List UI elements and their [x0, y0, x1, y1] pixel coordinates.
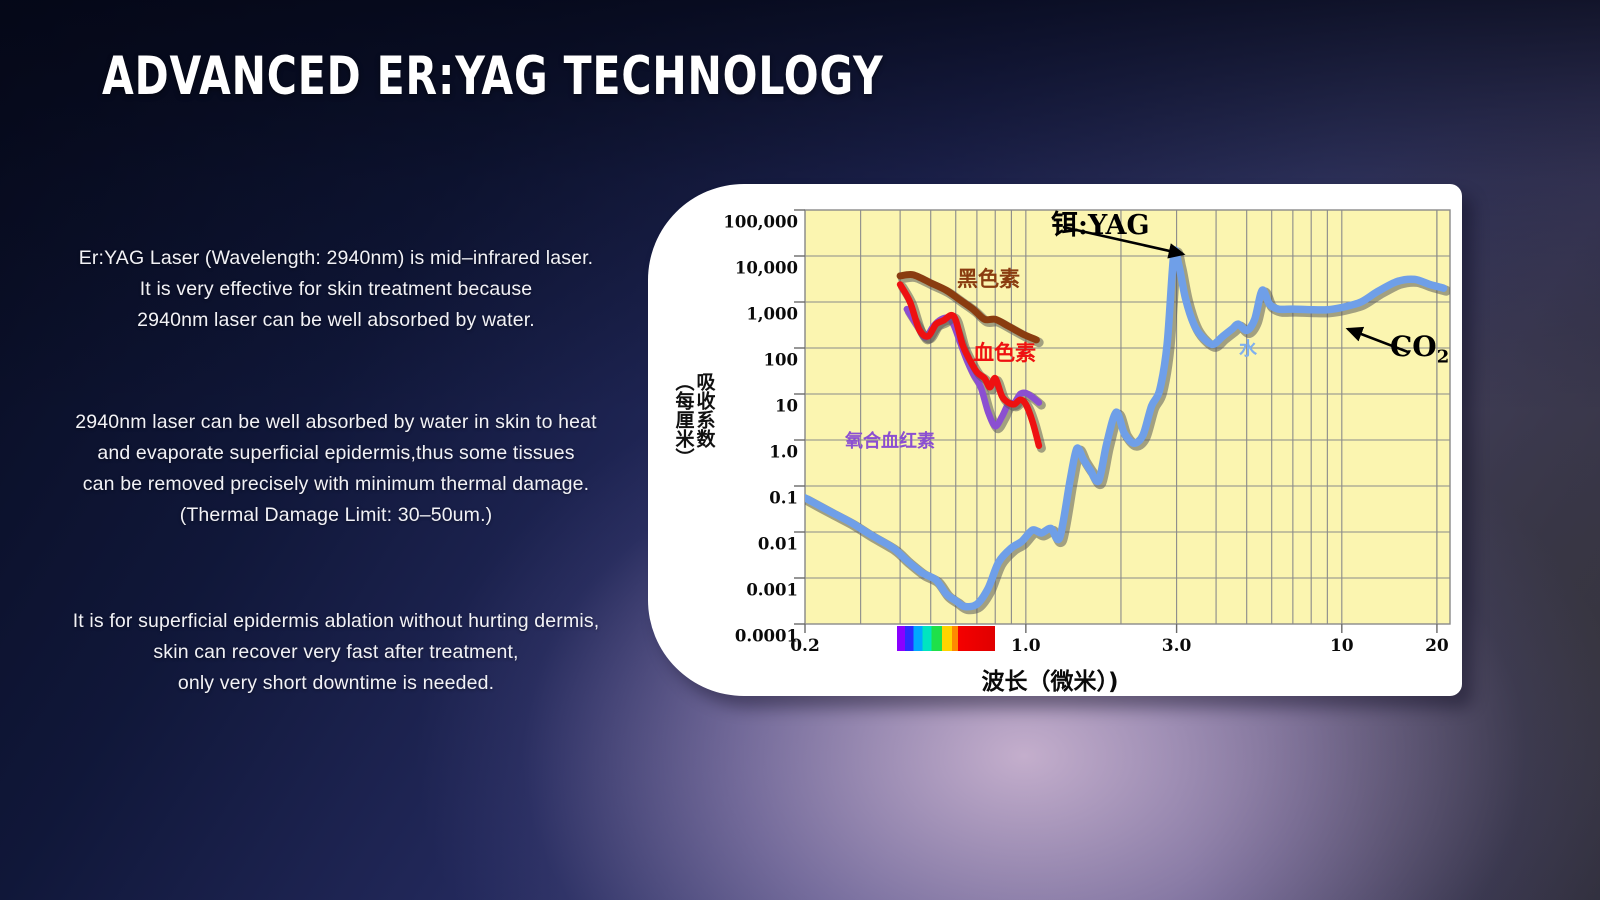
paragraph-line: (Thermal Damage Limit: 30–50um.) [26, 500, 646, 531]
paragraph-line: only very short downtime is needed. [26, 668, 646, 699]
annotation-er-yag: 铒:YAG [1051, 203, 1150, 242]
y-tick-label: 10,000 [735, 259, 798, 278]
x-tick-label: 20 [1425, 636, 1449, 656]
y-tick-label: 0.01 [758, 535, 798, 554]
x-tick-label: 0.2 [790, 636, 820, 656]
y-tick-label: 1.0 [769, 443, 798, 462]
visible-spectrum-bar [897, 626, 995, 651]
annotation-co2: CO2 [1390, 330, 1449, 368]
x-axis-tick-labels: 0.21.03.01020 [760, 636, 1460, 662]
y-tick-label: 100 [764, 351, 798, 370]
y-tick-label: 0.001 [746, 581, 798, 600]
y-axis-title-part: （每厘米） [674, 372, 694, 532]
y-tick-label: 10 [775, 397, 798, 416]
paragraph-line: It is very effective for skin treatment … [26, 274, 646, 305]
paragraph-line: and evaporate superficial epidermis,thus… [26, 438, 646, 469]
x-tick-label: 1.0 [1011, 636, 1041, 656]
x-axis-title: 波长（微米）) [940, 662, 1160, 696]
y-tick-label: 1,000 [746, 305, 798, 324]
series-label-oxyhemoglobin: 氧合血红素 [845, 427, 935, 453]
x-tick-label: 3.0 [1162, 636, 1192, 656]
page-title: ADVANCED ER:YAG TECHNOLOGY [102, 46, 884, 107]
y-tick-label: 0.1 [769, 489, 798, 508]
x-tick-label: 10 [1330, 636, 1354, 656]
series-label-hemoglobin: 血色素 [973, 337, 1036, 367]
y-tick-label: 100,000 [723, 213, 798, 232]
paragraph-line: can be removed precisely with minimum th… [26, 469, 646, 500]
paragraph-intro: Er:YAG Laser (Wavelength: 2940nm) is mid… [26, 243, 646, 336]
paragraph-line: 2940nm laser can be well absorbed by wat… [26, 407, 646, 438]
series-label-melanin: 黑色素 [957, 263, 1020, 293]
paragraph-line: skin can recover very fast after treatme… [26, 637, 646, 668]
paragraph-line: It is for superficial epidermis ablation… [26, 606, 646, 637]
paragraph-recovery: It is for superficial epidermis ablation… [26, 606, 646, 699]
series-label-water: 水 [1239, 335, 1257, 361]
y-axis-tick-labels: 100,00010,0001,000100101.00.10.010.0010.… [700, 196, 798, 626]
paragraph-absorption: 2940nm laser can be well absorbed by wat… [26, 407, 646, 531]
paragraph-line: 2940nm laser can be well absorbed by wat… [26, 305, 646, 336]
paragraph-line: Er:YAG Laser (Wavelength: 2940nm) is mid… [26, 243, 646, 274]
